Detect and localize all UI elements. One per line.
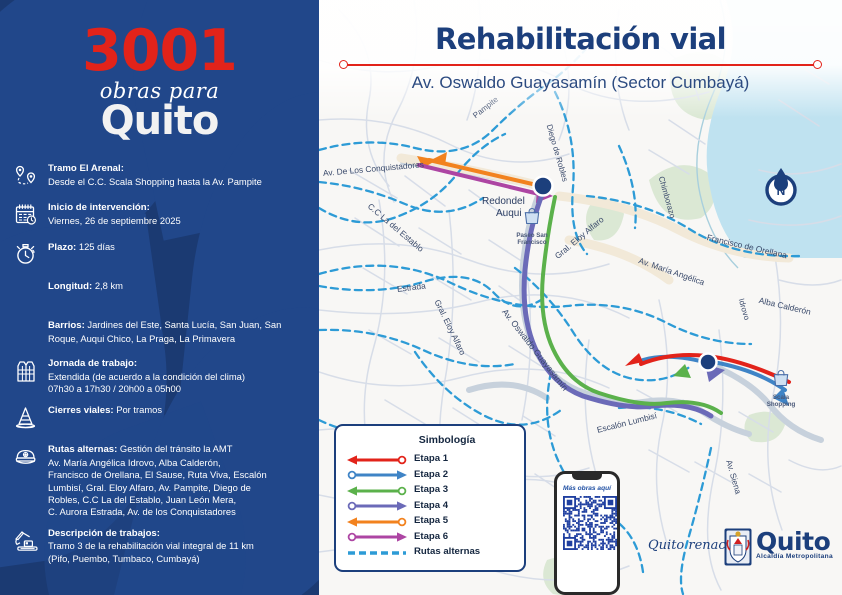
legend-title: Simbología <box>380 434 514 446</box>
info-text: Inicio de intervención:Viernes, 26 de se… <box>48 202 181 227</box>
none <box>10 319 42 349</box>
page-subtitle: Av. Oswaldo Guayasamín (Sector Cumbayá) <box>319 73 842 93</box>
page-title: Rehabilitación vial <box>319 0 842 56</box>
info-row: Cierres viales: Por tramos <box>10 404 307 434</box>
info-text: Plazo: 125 días <box>48 241 115 254</box>
info-row: Inicio de intervención:Viernes, 26 de se… <box>10 202 307 232</box>
rule-dot-right <box>813 60 822 69</box>
poi-paseo-san-francisco: Paseo San Francisco <box>515 206 549 246</box>
info-body: 125 días <box>79 241 115 252</box>
info-text: Rutas alternas: Gestión del tránsito la … <box>48 443 267 518</box>
legend-swatch <box>346 546 408 558</box>
info-title: Tramo El Arenal: <box>48 163 262 175</box>
legend-swatch <box>346 515 408 527</box>
phone-mockup: Más obras aquí <box>554 471 620 595</box>
campaign-logo: 3001 obras para Quito <box>0 0 319 141</box>
brand-name: Quito <box>756 529 833 554</box>
info-text: Cierres viales: Por tramos <box>48 404 162 417</box>
route-pin-icon <box>10 163 42 193</box>
traffic-cone-icon <box>10 404 42 434</box>
legend-item: Etapa 5 <box>346 513 514 529</box>
poi-label: Scala Shopping <box>763 394 799 408</box>
info-body: Tramo 3 de la rehabilitación vial integr… <box>48 540 254 563</box>
none <box>10 280 42 310</box>
legend-swatch <box>346 453 408 465</box>
info-body: 2,8 km <box>95 280 123 291</box>
quito-brand: Quito Alcaldía Metropolitana <box>756 529 833 560</box>
info-text: Tramo El Arenal:Desde el C.C. Scala Shop… <box>48 163 262 188</box>
excavator-icon <box>10 528 42 558</box>
legend-item: Etapa 6 <box>346 529 514 545</box>
info-body: Extendida (de acuerdo a la condición del… <box>48 371 245 394</box>
legend-item: Etapa 4 <box>346 498 514 514</box>
safety-vest-icon <box>10 358 42 388</box>
info-text: Descripción de trabajos:Tramo 3 de la re… <box>48 528 254 565</box>
info-title: Rutas alternas: <box>48 444 117 455</box>
info-row: Plazo: 125 días <box>10 241 307 271</box>
quito-coat-of-arms-icon <box>724 528 752 566</box>
legend-label: Rutas alternas <box>414 546 480 557</box>
infographic-page: 3001 obras para Quito Tramo El Arenal:De… <box>0 0 842 595</box>
legend-swatch <box>346 468 408 480</box>
info-title: Plazo: <box>48 242 76 253</box>
slogan-quito-renace: Quito renace <box>648 538 733 553</box>
calendar-icon <box>10 202 42 232</box>
rule-dot-left <box>339 60 348 69</box>
info-row: Barrios: Jardines del Este, Santa Lucía,… <box>10 319 307 349</box>
compass-letter: N <box>777 184 786 198</box>
legend-label: Etapa 2 <box>414 469 448 480</box>
shopping-bag-icon <box>771 368 791 388</box>
title-rule <box>319 59 842 71</box>
info-title: Cierres viales: <box>48 405 114 416</box>
legend-item: Etapa 2 <box>346 467 514 483</box>
info-row: Tramo El Arenal:Desde el C.C. Scala Shop… <box>10 163 307 193</box>
phone-notch <box>572 474 602 480</box>
info-title: Descripción de trabajos: <box>48 528 254 540</box>
map-header: Rehabilitación vial Av. Oswaldo Guayasam… <box>319 0 842 93</box>
info-text: Jornada de trabajo:Extendida (de acuerdo… <box>48 358 245 395</box>
legend-label: Etapa 6 <box>414 531 448 542</box>
legend-label: Etapa 4 <box>414 500 448 511</box>
info-row: Longitud: 2,8 km <box>10 280 307 310</box>
shopping-bag-icon <box>522 206 542 226</box>
info-body: Desde el C.C. Scala Shopping hasta la Av… <box>48 176 262 187</box>
legend-item: Etapa 1 <box>346 451 514 467</box>
legend-swatch <box>346 530 408 542</box>
brand-subtitle: Alcaldía Metropolitana <box>756 553 833 560</box>
logo-city: Quito <box>0 101 319 141</box>
stopwatch-icon <box>10 241 42 271</box>
info-list: Tramo El Arenal:Desde el C.C. Scala Shop… <box>0 163 319 565</box>
poi-label: Paseo San Francisco <box>515 232 549 246</box>
info-body: Viernes, 26 de septiembre 2025 <box>48 215 181 226</box>
info-title: Jornada de trabajo: <box>48 358 245 370</box>
legend-label: Etapa 1 <box>414 453 448 464</box>
info-row: Jornada de trabajo:Extendida (de acuerdo… <box>10 358 307 395</box>
info-row: Rutas alternas: Gestión del tránsito la … <box>10 443 307 518</box>
legend-rows: Etapa 1Etapa 2Etapa 3Etapa 4Etapa 5Etapa… <box>346 451 514 560</box>
info-body: Por tramos <box>116 404 162 415</box>
logo-number: 3001 <box>0 24 319 78</box>
legend-item: Rutas alternas <box>346 544 514 560</box>
map-panel[interactable]: Rehabilitación vial Av. Oswaldo Guayasam… <box>319 0 842 595</box>
police-cap-icon <box>10 443 42 473</box>
phone-body: Más obras aquí <box>554 471 620 595</box>
info-row: Descripción de trabajos:Tramo 3 de la re… <box>10 528 307 565</box>
info-text: Longitud: 2,8 km <box>48 280 123 293</box>
legend-label: Etapa 3 <box>414 484 448 495</box>
legend-label: Etapa 5 <box>414 515 448 526</box>
compass-rose-icon: N <box>762 166 800 211</box>
sidebar: 3001 obras para Quito Tramo El Arenal:De… <box>0 0 319 595</box>
poi-scala-shopping: Scala Shopping <box>763 368 799 408</box>
info-text: Barrios: Jardines del Este, Santa Lucía,… <box>48 319 307 345</box>
info-title: Inicio de intervención: <box>48 202 181 214</box>
legend-box: Simbología Etapa 1Etapa 2Etapa 3Etapa 4E… <box>334 424 526 572</box>
legend-swatch <box>346 499 408 511</box>
legend-swatch <box>346 484 408 496</box>
info-title: Longitud: <box>48 281 92 292</box>
qr-code[interactable] <box>563 496 617 550</box>
phone-caption: Más obras aquí <box>557 485 617 492</box>
legend-item: Etapa 3 <box>346 482 514 498</box>
info-title: Barrios: <box>48 320 85 331</box>
